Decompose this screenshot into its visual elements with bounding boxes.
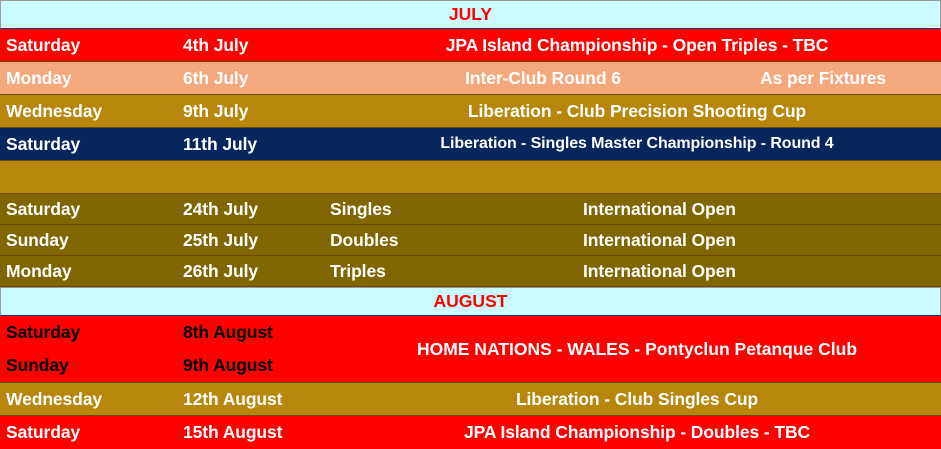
table-row: Monday 6th July Inter-Club Round 6 As pe… xyxy=(0,62,941,95)
row-date: 25th July xyxy=(183,225,328,255)
row-event: International Open xyxy=(583,194,941,224)
merged-dates-column: Saturday 8th August Sunday 9th August xyxy=(0,316,333,382)
month-banner-july-label: JULY xyxy=(449,4,492,25)
row-day: Monday xyxy=(0,256,183,286)
spacer-row-gold xyxy=(0,161,941,194)
row-date: 11th July xyxy=(183,128,333,160)
table-row: Wednesday 9th July Liberation - Club Pre… xyxy=(0,95,941,128)
table-row: Saturday 11th July Liberation - Singles … xyxy=(0,128,941,161)
row-day: Wednesday xyxy=(0,95,183,127)
row-day: Sunday xyxy=(0,225,183,255)
row-event: Liberation - Club Singles Cup xyxy=(333,383,941,415)
month-banner-august-label: AUGUST xyxy=(434,291,508,312)
fixtures-calendar: JULY Saturday 4th July JPA Island Champi… xyxy=(0,0,941,449)
row-day: Saturday xyxy=(0,194,183,224)
table-row: Monday 26th July Triples International O… xyxy=(0,256,941,287)
row-format: Singles xyxy=(328,194,583,224)
row-event: International Open xyxy=(583,256,941,286)
row-event: HOME NATIONS - WALES - Pontyclun Petanqu… xyxy=(333,316,941,382)
table-row: Saturday 24th July Singles International… xyxy=(0,194,941,225)
row-event: International Open xyxy=(583,225,941,255)
row-day: Saturday xyxy=(0,29,183,61)
row-day: Saturday xyxy=(0,322,183,343)
month-banner-august: AUGUST xyxy=(0,287,941,316)
row-event: Liberation - Club Precision Shooting Cup xyxy=(333,95,941,127)
table-row: Saturday 15th August JPA Island Champion… xyxy=(0,416,941,449)
row-date: 24th July xyxy=(183,194,328,224)
table-row: Wednesday 12th August Liberation - Club … xyxy=(0,383,941,416)
table-row: Sunday 9th August xyxy=(0,349,333,382)
month-banner-july: JULY xyxy=(0,0,941,29)
row-day: Wednesday xyxy=(0,383,183,415)
row-date: 8th August xyxy=(183,322,333,343)
row-day: Sunday xyxy=(0,355,183,376)
row-day: Saturday xyxy=(0,416,183,449)
row-event: JPA Island Championship - Doubles - TBC xyxy=(333,416,941,449)
row-event: Liberation - Singles Master Championship… xyxy=(333,128,941,160)
row-date: 6th July xyxy=(183,62,333,94)
table-row-merged: Saturday 8th August Sunday 9th August HO… xyxy=(0,316,941,383)
row-format: Doubles xyxy=(328,225,583,255)
table-row: Sunday 25th July Doubles International O… xyxy=(0,225,941,256)
row-format: Triples xyxy=(328,256,583,286)
row-event: JPA Island Championship - Open Triples -… xyxy=(333,29,941,61)
table-row: Saturday 8th August xyxy=(0,316,333,349)
row-day: Saturday xyxy=(0,128,183,160)
row-date: 9th July xyxy=(183,95,333,127)
row-event: Inter-Club Round 6 xyxy=(333,62,753,94)
row-date: 9th August xyxy=(183,355,333,376)
row-date: 15th August xyxy=(183,416,333,449)
row-day: Monday xyxy=(0,62,183,94)
row-event-note: As per Fixtures xyxy=(753,62,941,94)
table-row: Saturday 4th July JPA Island Championshi… xyxy=(0,29,941,62)
row-date: 12th August xyxy=(183,383,333,415)
row-date: 26th July xyxy=(183,256,328,286)
row-date: 4th July xyxy=(183,29,333,61)
